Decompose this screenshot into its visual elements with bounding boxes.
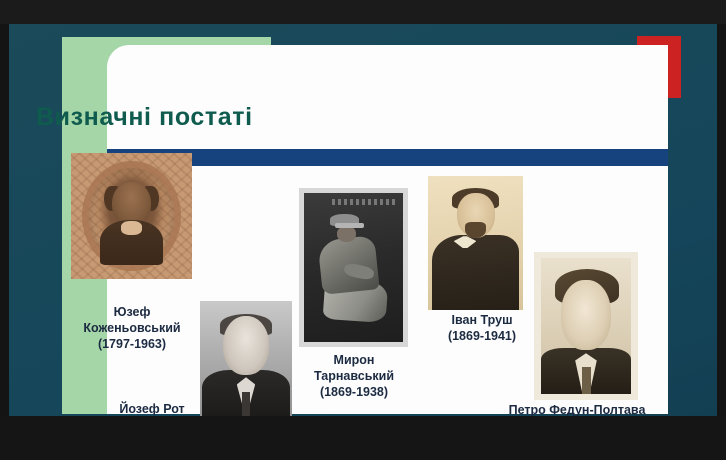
- red-corner-accent-vertical: [668, 36, 681, 98]
- page-title: Визначні постаті: [36, 103, 253, 132]
- cap-brim-shape: [335, 223, 365, 228]
- letterbox-top-bar: [0, 0, 726, 24]
- caption-petro-fedun-poltava: Петро Федун-Полтава (1887-1957): [481, 403, 673, 416]
- portrait-petro-fedun-poltava-plate: [541, 258, 631, 394]
- torso-shape: [432, 235, 519, 310]
- face-shape: [337, 226, 357, 242]
- caption-dates: (1869-1941): [422, 329, 542, 345]
- collar-shape: [121, 221, 143, 235]
- portrait-yozef-rot: [200, 301, 292, 416]
- portrait-myron-tarnavskyi-plate: [304, 193, 403, 342]
- photo-inscription-text: [332, 199, 397, 205]
- portrait-petro-fedun-poltava: [534, 252, 638, 400]
- caption-name-line-1: Йозеф Рот: [119, 402, 184, 416]
- caption-name-line-2: Коженьовський: [83, 321, 180, 335]
- caption-myron-tarnavskyi: Мирон Тарнавський (1869-1938): [288, 353, 420, 401]
- caption-yozef-rot: Йозеф Рот (1894-1939): [92, 402, 212, 416]
- caption-name-line-1: Юзеф: [114, 305, 151, 319]
- face-shape: [561, 280, 611, 351]
- portrait-ivan-trush: [428, 176, 523, 310]
- portrait-yozef-rot-inner: [200, 301, 292, 416]
- portrait-kozheniovskyi: [71, 153, 192, 279]
- caption-name-line-1: Петро Федун-Полтава: [509, 403, 646, 416]
- caption-dates: (1797-1963): [65, 337, 199, 353]
- portrait-myron-tarnavskyi: [299, 188, 408, 347]
- portrait-kozheniovskyi-inner: [71, 153, 192, 279]
- presentation-slide: Визначні постаті: [9, 24, 717, 416]
- caption-ivan-trush: Іван Труш (1869-1941): [422, 313, 542, 345]
- video-viewer: Визначні постаті: [0, 0, 726, 460]
- tie-shape: [242, 392, 249, 416]
- caption-name-line-1: Мирон: [334, 353, 375, 367]
- caption-name-line-2: Тарнавський: [314, 369, 394, 383]
- portrait-ivan-trush-inner: [428, 176, 523, 310]
- caption-dates: (1869-1938): [288, 385, 420, 401]
- face-shape: [223, 316, 269, 374]
- beard-shape: [465, 222, 486, 238]
- letterbox-bottom-bar: [0, 416, 726, 460]
- caption-name-line-1: Іван Труш: [452, 313, 513, 327]
- face-shape: [112, 182, 151, 225]
- tie-shape: [582, 367, 591, 394]
- caption-kozheniovskyi: Юзеф Коженьовський (1797-1963): [65, 305, 199, 353]
